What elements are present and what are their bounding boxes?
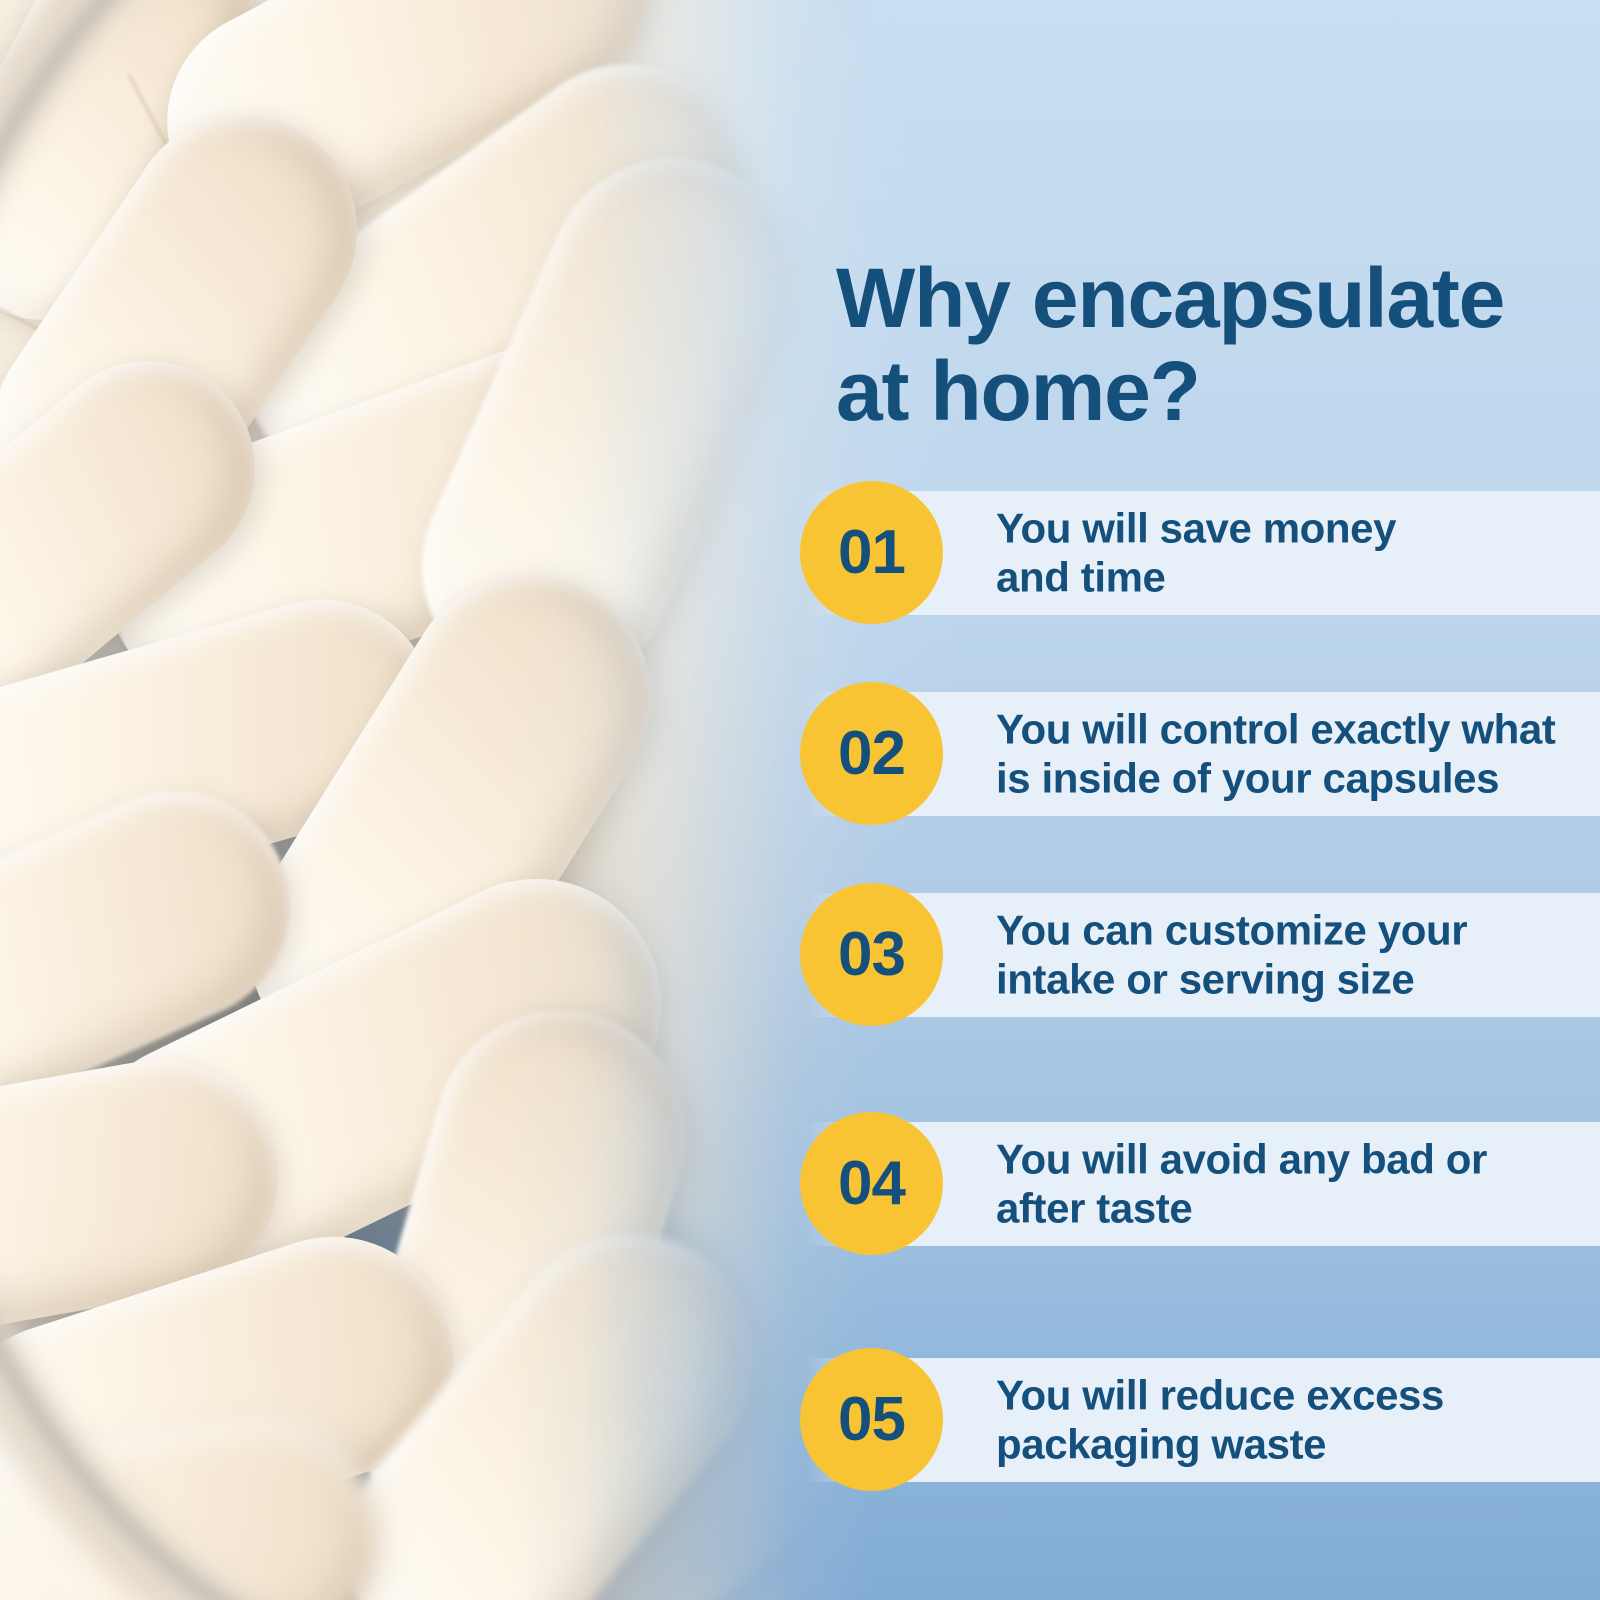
list-item-number: 03 — [838, 924, 905, 986]
list-item: 01 You will save money and time — [0, 491, 1600, 615]
list-item-number-badge: 04 — [800, 1112, 943, 1255]
list-item-text: You will save money and time — [996, 504, 1596, 601]
infographic-poster: Why encapsulate at home? 01 You will sav… — [0, 0, 1600, 1600]
list-item-number: 02 — [838, 723, 905, 785]
list-item: 03 You can customize your intake or serv… — [0, 893, 1600, 1017]
list-item-number-badge: 05 — [800, 1348, 943, 1491]
list-item: 04 You will avoid any bad or after taste — [0, 1122, 1600, 1246]
list-item-number: 04 — [838, 1153, 905, 1215]
list-item-text: You will avoid any bad or after taste — [996, 1135, 1596, 1232]
list-item-text: You will control exactly what is inside … — [996, 705, 1600, 802]
list-item-number: 05 — [838, 1389, 905, 1451]
list-item: 05 You will reduce excess packaging wast… — [0, 1358, 1600, 1482]
list-item-number-badge: 03 — [800, 883, 943, 1026]
list-item-number-badge: 01 — [800, 481, 943, 624]
benefits-list: 01 You will save money and time 02 You w… — [0, 0, 1600, 1600]
list-item-number: 01 — [838, 522, 905, 584]
list-item-number-badge: 02 — [800, 682, 943, 825]
list-item-text: You will reduce excess packaging waste — [996, 1371, 1596, 1468]
list-item-text: You can customize your intake or serving… — [996, 906, 1596, 1003]
list-item: 02 You will control exactly what is insi… — [0, 692, 1600, 816]
